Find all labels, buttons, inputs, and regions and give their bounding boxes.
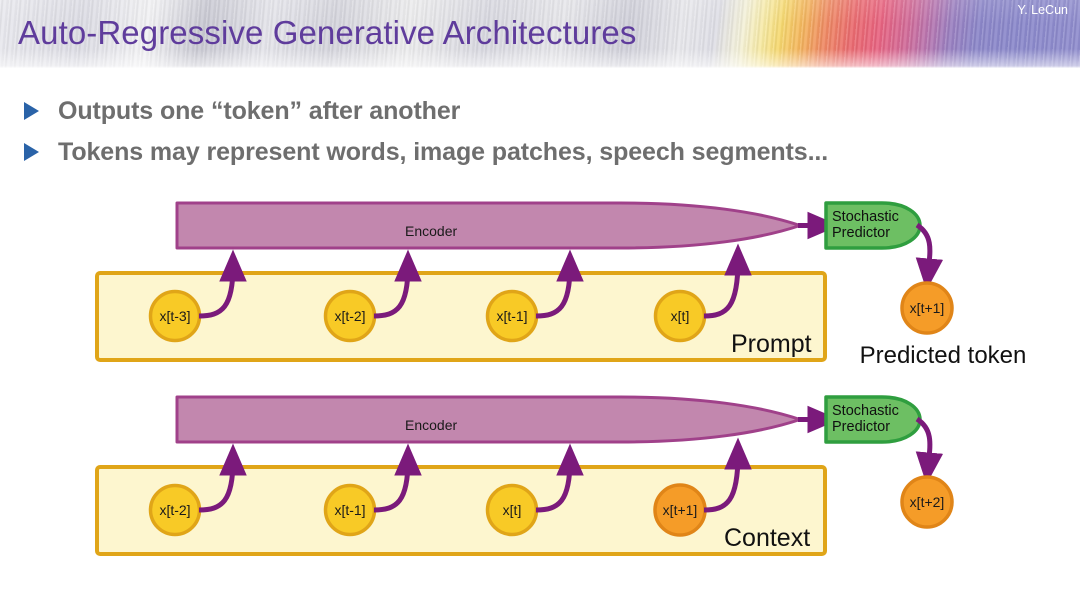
bullet-item-1: Outputs one “token” after another: [24, 96, 1064, 126]
token-label-2: x[t-2]: [334, 308, 365, 324]
token-label-4: x[t]: [671, 308, 690, 324]
token-label-2: x[t-1]: [334, 502, 365, 518]
stochastic-predictor-label-line1: Stochastic: [832, 209, 899, 225]
triangle-right-icon: [24, 102, 50, 120]
triangle-right-icon: [24, 143, 50, 161]
stochastic-predictor-label-line2: Predictor: [832, 419, 899, 435]
encoder-shape: [177, 203, 800, 248]
encoder-label: Encoder: [405, 417, 457, 433]
context-box-caption: Context: [724, 524, 810, 553]
author-credit: Y. LeCun: [1017, 3, 1068, 17]
bullet-item-2: Tokens may represent words, image patche…: [24, 137, 1064, 167]
predicted-token-label: x[t+1]: [910, 300, 945, 316]
token-label-4: x[t+1]: [663, 502, 698, 518]
stochastic-predictor-label: Stochastic Predictor: [832, 403, 899, 435]
stochastic-predictor-label-line1: Stochastic: [832, 403, 899, 419]
token-label-1: x[t-2]: [159, 502, 190, 518]
bullet-list: Outputs one “token” after another Tokens…: [24, 96, 1064, 178]
encoder-label: Encoder: [405, 223, 457, 239]
predicted-token-caption: Predicted token: [860, 342, 1027, 370]
token-label-3: x[t-1]: [496, 308, 527, 324]
header-divider: [0, 68, 1080, 71]
page-title: Auto-Regressive Generative Architectures: [18, 14, 636, 52]
encoder-shape: [177, 397, 800, 442]
token-label-1: x[t-3]: [159, 308, 190, 324]
stochastic-predictor-label-line2: Predictor: [832, 225, 899, 241]
predicted-token-label: x[t+2]: [910, 494, 945, 510]
diagram-prompt-row: Encoder Stochastic Predictor x[t-3] x[t-…: [0, 190, 1080, 375]
bullet-item-1-text: Outputs one “token” after another: [58, 97, 460, 126]
prompt-box-caption: Prompt: [731, 330, 812, 359]
slide-header: Auto-Regressive Generative Architectures…: [0, 0, 1080, 68]
token-label-3: x[t]: [503, 502, 522, 518]
bullet-item-2-text: Tokens may represent words, image patche…: [58, 138, 828, 167]
diagram-context-row: Encoder Stochastic Predictor x[t-2] x[t-…: [0, 384, 1080, 569]
stochastic-predictor-label: Stochastic Predictor: [832, 209, 899, 241]
